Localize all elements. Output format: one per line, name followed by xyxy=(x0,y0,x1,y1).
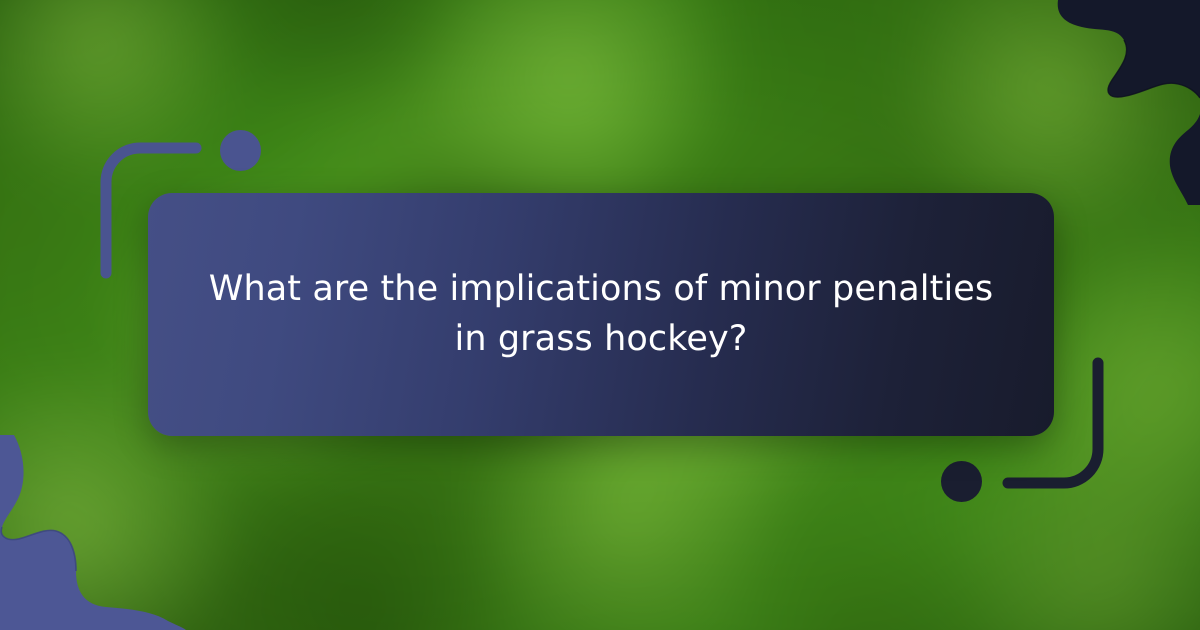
screenshot-canvas: What are the implications of minor penal… xyxy=(0,0,1200,630)
question-card: What are the implications of minor penal… xyxy=(148,193,1054,436)
question-text: What are the implications of minor penal… xyxy=(200,265,1002,364)
